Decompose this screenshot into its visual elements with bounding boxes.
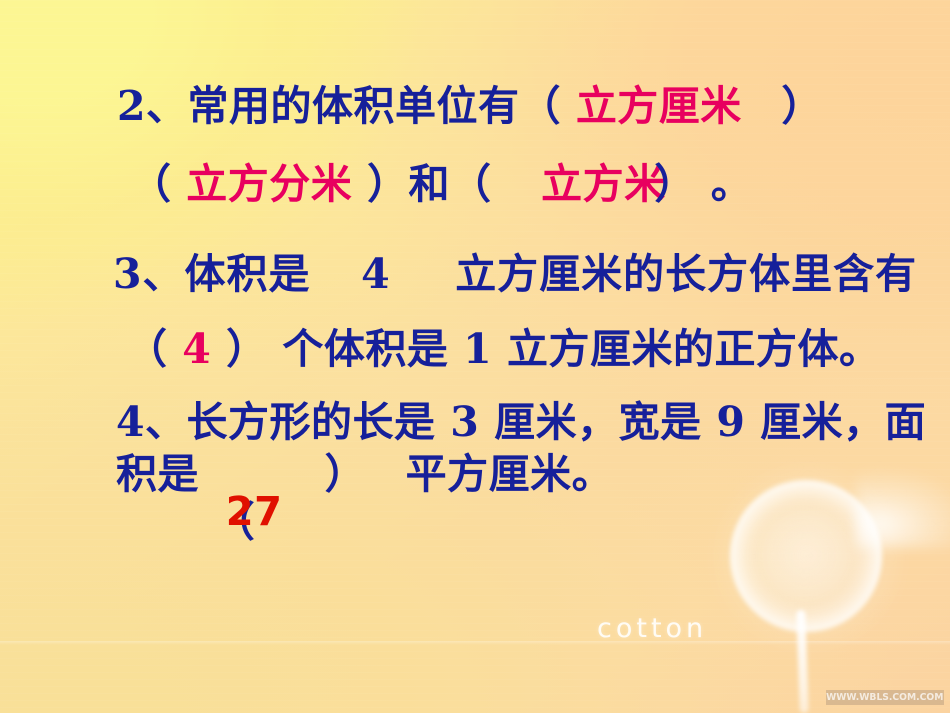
q2-l2-answer-2: 立方米 [541, 160, 666, 208]
q2-l2-period: 。 [711, 160, 753, 208]
q2-l2-answer-1: 立方分米 [186, 160, 352, 208]
q3-l2-answer: 4 [182, 325, 211, 373]
q2-l1-suffix: ） [781, 82, 823, 130]
q3-l1-value: 4 [361, 250, 391, 298]
question-4-line-1: 4、长方形的长是 3 厘米，宽是 9 厘米，面 [116, 388, 926, 448]
q3-l1-suffix: 立方厘米的长方体里含有 [455, 250, 917, 298]
q4-l2-answer: 27 [226, 489, 283, 535]
q4-l2-suffix: 平方厘米。 [406, 450, 614, 498]
question-4-line-2: 积是 （ 27 ） 平方厘米。 [116, 440, 613, 500]
q2-l2-open-paren: （ [130, 160, 172, 208]
question-3-line-2: （ 4 ） 个体积是 1 立方厘米的正方体。 [126, 315, 880, 375]
q2-l2-middle: ）和（ [367, 160, 492, 208]
q4-l2-prefix: 积是 [116, 450, 199, 498]
q3-l2-close-paren: ） [226, 325, 268, 373]
slide-text-content: 2、常用的体积单位有（ 立方厘米 ） （ 立方分米 ）和（ 立方米 ） 。 3、… [0, 0, 950, 713]
slide-canvas: cotton WWW.WBLS.COM.COM 2、常用的体积单位有（ 立方厘米… [0, 0, 950, 713]
q3-l2-rest: 个体积是 1 立方厘米的正方体。 [282, 325, 880, 373]
q4-l1-text: 4、长方形的长是 3 厘米，宽是 9 厘米，面 [116, 398, 926, 446]
q2-l1-prefix: 2、常用的体积单位有（ [117, 82, 561, 130]
question-2-line-2: （ 立方分米 ）和（ 立方米 ） 。 [130, 150, 752, 210]
q2-l2-close-paren: ） [654, 150, 696, 210]
q3-l1-prefix: 3、体积是 [113, 250, 311, 298]
question-2-line-1: 2、常用的体积单位有（ 立方厘米 ） [117, 72, 823, 132]
q4-l2-close-paren: ） [325, 450, 367, 498]
question-3-line-1: 3、体积是 4 立方厘米的长方体里含有 [113, 240, 917, 300]
q2-l1-answer: 立方厘米 [576, 82, 742, 130]
q3-l2-open-paren: （ [126, 325, 168, 373]
